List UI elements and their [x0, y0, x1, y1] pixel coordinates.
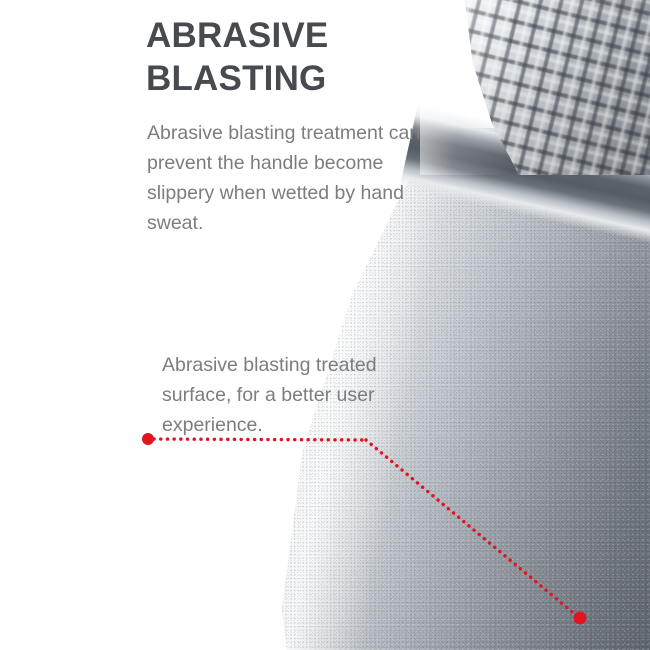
callout-label: Abrasive blasting treated surface, for a… [162, 350, 412, 440]
page-title: ABRASIVE BLASTING [146, 14, 446, 100]
product-feature-image: ABRASIVE BLASTING Abrasive blasting trea… [0, 0, 650, 650]
feature-description: Abrasive blasting treatment can prevent … [147, 118, 443, 238]
